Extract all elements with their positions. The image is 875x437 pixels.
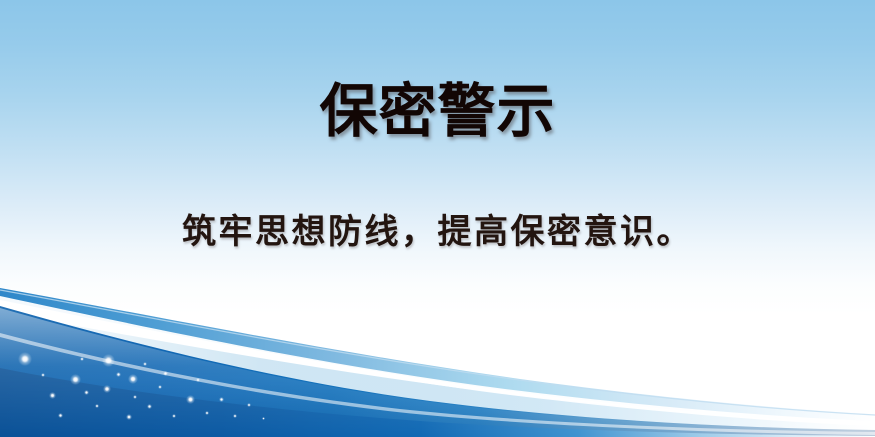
page-title: 保密警示	[0, 79, 875, 143]
page-subtitle: 筑牢思想防线，提高保密意识。	[0, 209, 875, 255]
secrecy-warning-slide: 保密警示 筑牢思想防线，提高保密意识。	[0, 0, 875, 437]
text-layer: 保密警示 筑牢思想防线，提高保密意识。	[0, 0, 875, 437]
